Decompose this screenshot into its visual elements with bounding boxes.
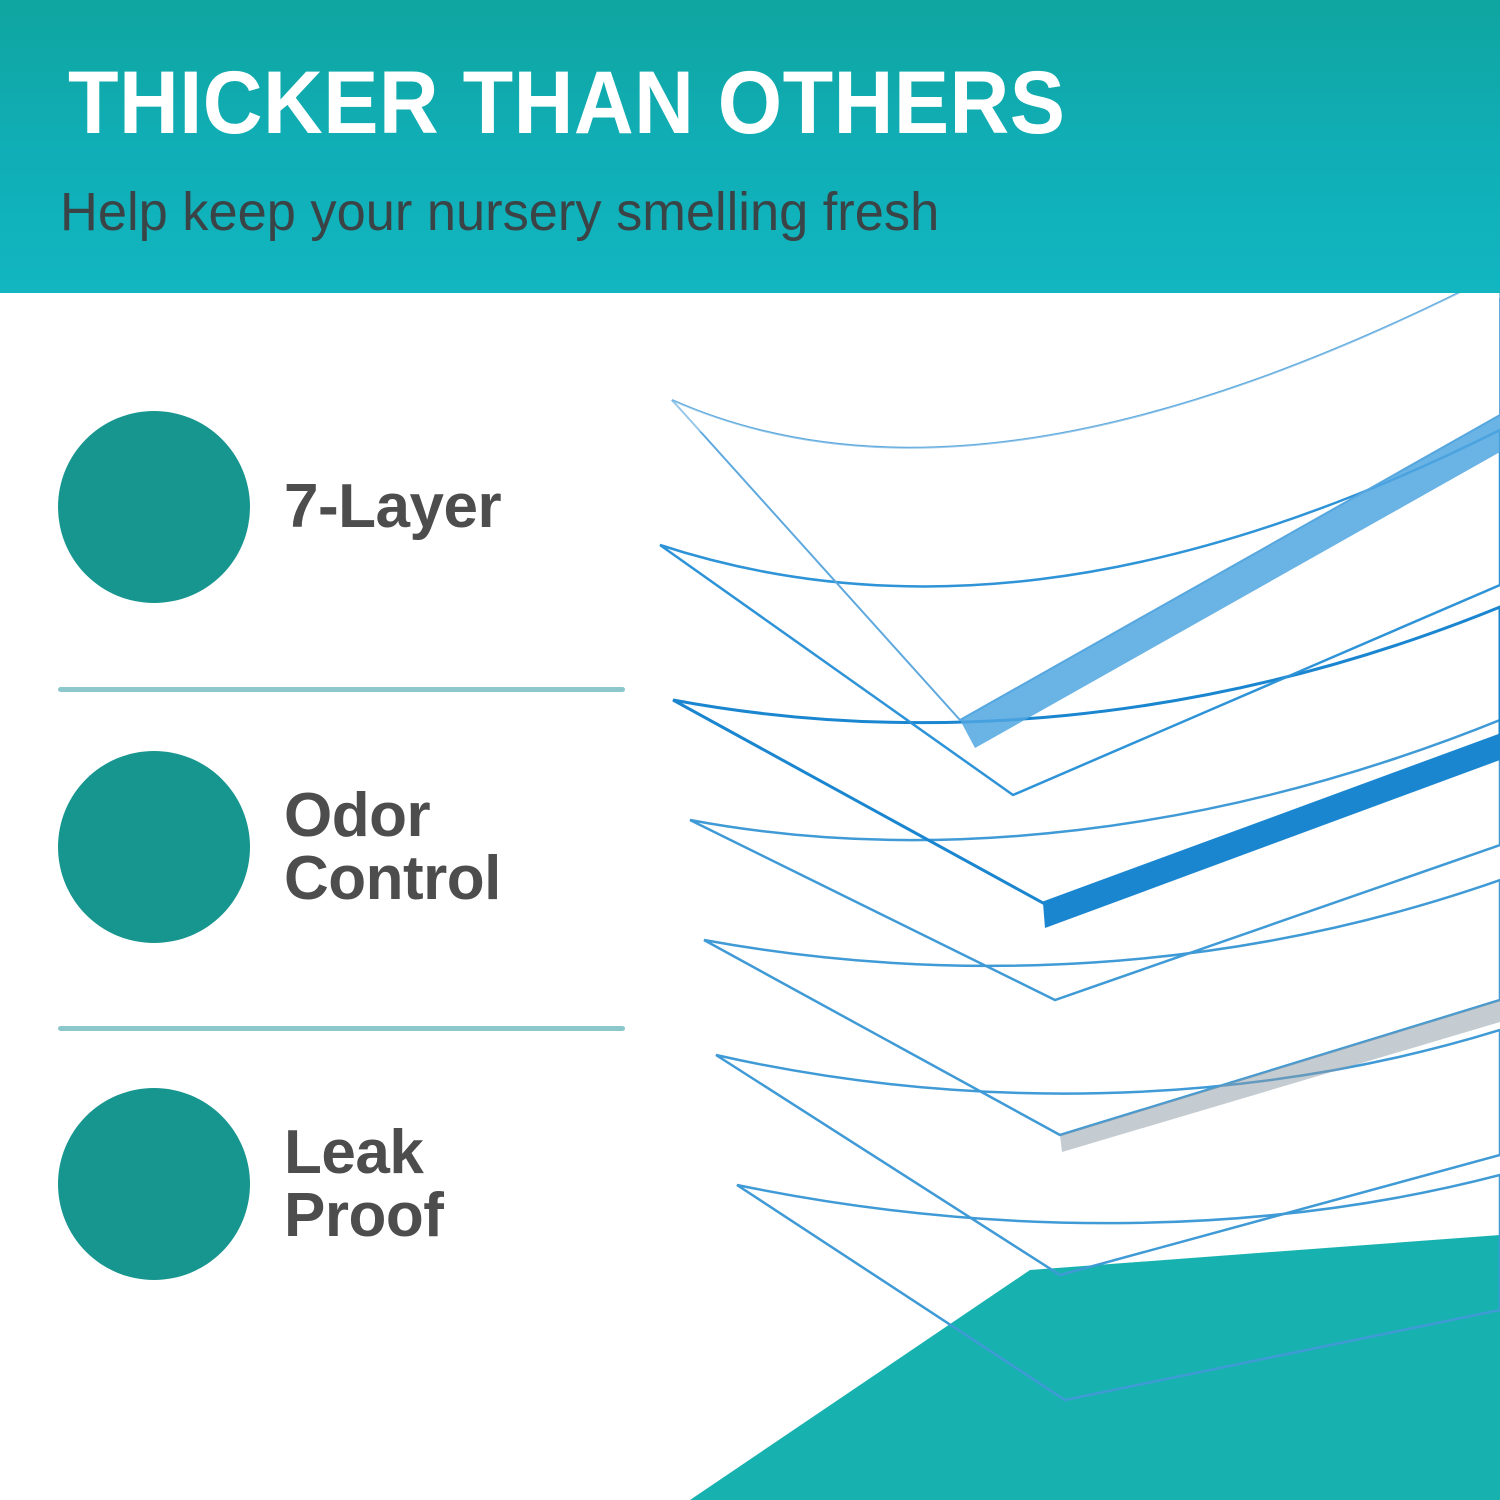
feature-item-7-layer[interactable]: 7-Layer [58, 411, 658, 603]
no-leak-droplets-icon [89, 1119, 219, 1249]
feature-label-line: Leak [284, 1121, 443, 1184]
layers-stack-icon [94, 447, 214, 567]
feature-label-line: Odor [284, 784, 501, 847]
feature-list: 7-Layer Odor Control [0, 293, 660, 1393]
feature-label-line: Control [284, 847, 501, 910]
feature-icon-badge [58, 751, 250, 943]
feature-item-leak-proof[interactable]: Leak Proof [58, 1088, 658, 1280]
no-odor-waves-icon [90, 783, 218, 911]
feature-label-line: Proof [284, 1184, 443, 1247]
feature-label: 7-Layer [284, 475, 501, 538]
feature-item-odor-control[interactable]: Odor Control [58, 751, 658, 943]
feature-label: Leak Proof [284, 1121, 443, 1247]
header-banner: THICKER THAN OTHERS Help keep your nurse… [0, 0, 1500, 293]
feature-divider [58, 687, 625, 692]
page-subtitle: Help keep your nursery smelling fresh [60, 185, 939, 239]
page-title: THICKER THAN OTHERS [68, 58, 1065, 147]
feature-icon-badge [58, 1088, 250, 1280]
product-feature-infographic: THICKER THAN OTHERS Help keep your nurse… [0, 0, 1500, 1500]
feature-divider [58, 1026, 625, 1031]
feature-icon-badge [58, 411, 250, 603]
feature-label-line: 7-Layer [284, 475, 501, 538]
feature-label: Odor Control [284, 784, 501, 910]
